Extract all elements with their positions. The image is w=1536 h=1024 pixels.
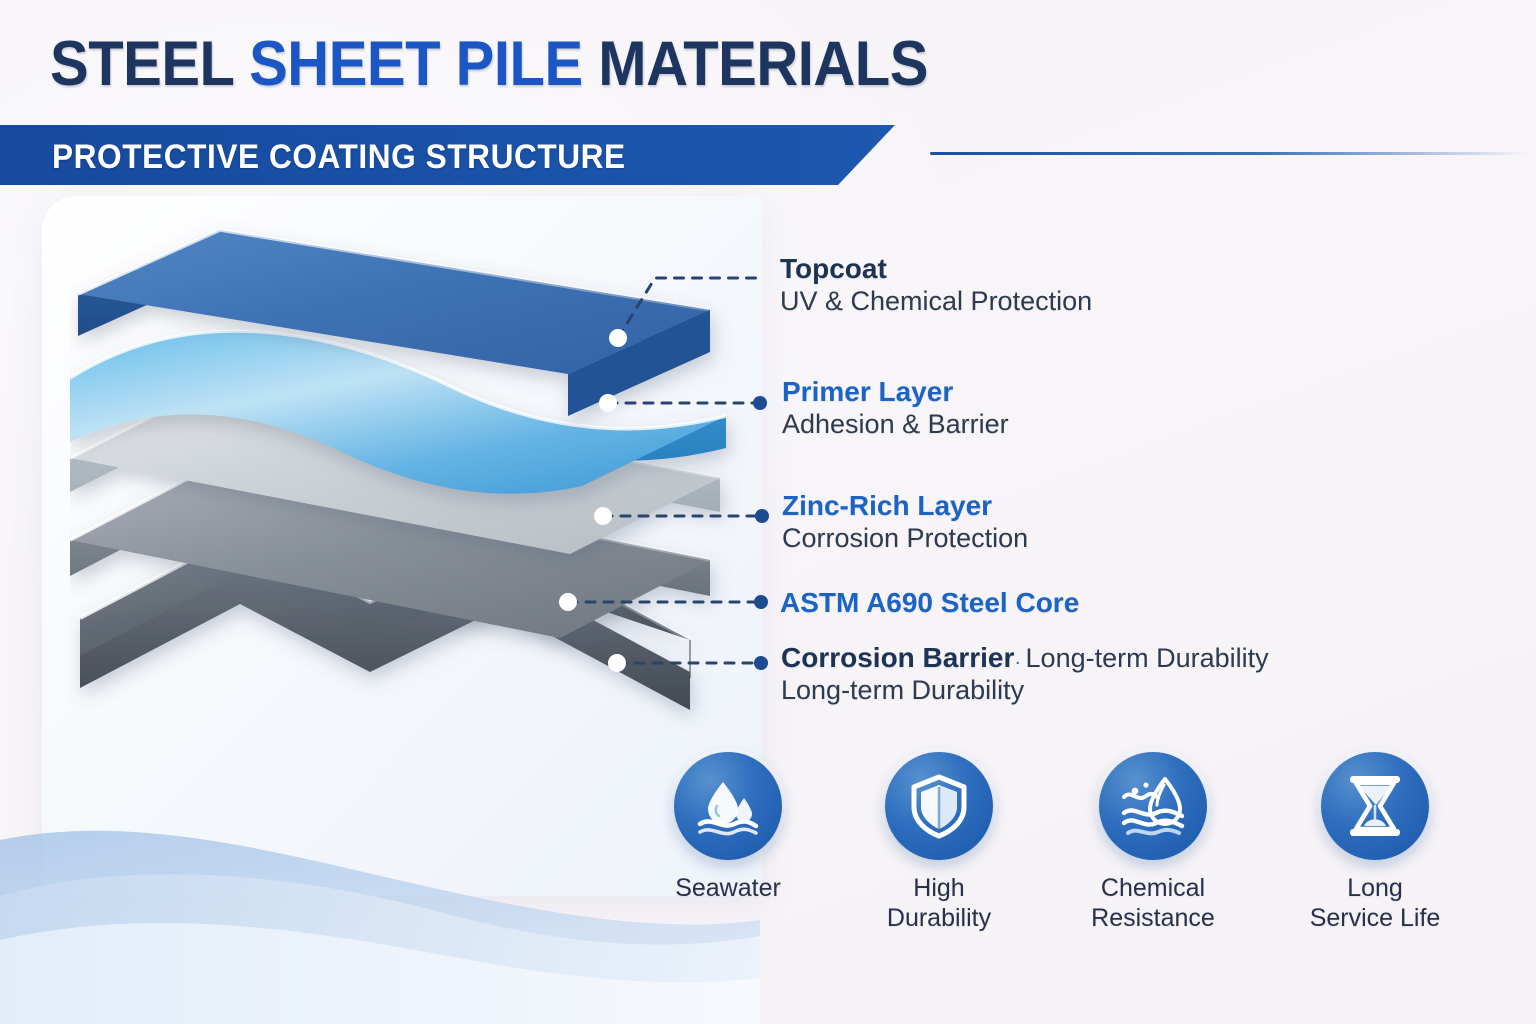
feature-high-durability-label-line1: High — [864, 874, 1014, 902]
callout-zinc: Zinc-Rich Layer Corrosion Protection — [782, 489, 1028, 555]
callout-corrosion-barrier-inline-suffix: Long-term Durability — [1026, 643, 1269, 673]
infographic-canvas: STEEL SHEET PILE MATERIALS PROTECTIVE CO… — [0, 0, 1536, 1024]
page-title: STEEL SHEET PILE MATERIALS — [50, 33, 928, 96]
page-subtitle: PROTECTIVE COATING STRUCTURE — [52, 138, 626, 177]
callout-topcoat: Topcoat UV & Chemical Protection — [780, 252, 1092, 318]
feature-seawater[interactable]: Seawater — [653, 752, 803, 902]
title-part-1: STEEL — [50, 29, 249, 99]
callout-primer: Primer Layer Adhesion & Barrier — [782, 375, 1009, 441]
callout-corrosion-barrier: Corrosion Barrier· Long-term Durability … — [781, 641, 1269, 707]
title-part-3: MATERIALS — [598, 29, 928, 99]
feature-long-service-life-label-line1: Long — [1300, 874, 1450, 902]
feature-seawater-label-line1: Seawater — [653, 874, 803, 902]
chemical-waves-icon — [1099, 752, 1207, 860]
callout-steel-core: ASTM A690 Steel Core — [780, 586, 1079, 619]
feature-chemical-resistance-label-line1: Chemical — [1078, 874, 1228, 902]
feature-chemical-resistance[interactable]: Chemical Resistance — [1078, 752, 1228, 932]
callout-steel-core-title: ASTM A690 Steel Core — [780, 586, 1079, 619]
callout-corrosion-barrier-subtitle: Long-term Durability — [781, 674, 1269, 707]
title-part-2: SHEET PILE — [249, 29, 598, 99]
callout-topcoat-title: Topcoat — [780, 252, 1092, 285]
callout-zinc-title: Zinc-Rich Layer — [782, 489, 1028, 522]
feature-high-durability-label-line2: Durability — [864, 904, 1014, 932]
header-divider-line — [930, 152, 1530, 155]
water-drop-waves-icon — [674, 752, 782, 860]
hourglass-icon — [1321, 752, 1429, 860]
layer-stack-illustration — [70, 210, 770, 830]
feature-high-durability[interactable]: High Durability — [864, 752, 1014, 932]
callout-zinc-subtitle: Corrosion Protection — [782, 522, 1028, 555]
feature-long-service-life-label-line2: Service Life — [1300, 904, 1450, 932]
shield-icon — [885, 752, 993, 860]
callout-separator-dot: · — [1014, 651, 1021, 673]
callout-corrosion-barrier-title: Corrosion Barrier — [781, 642, 1014, 673]
callout-primer-title: Primer Layer — [782, 375, 1009, 408]
callout-topcoat-subtitle: UV & Chemical Protection — [780, 285, 1092, 318]
feature-long-service-life[interactable]: Long Service Life — [1300, 752, 1450, 932]
feature-chemical-resistance-label-line2: Resistance — [1078, 904, 1228, 932]
callout-primer-subtitle: Adhesion & Barrier — [782, 408, 1009, 441]
